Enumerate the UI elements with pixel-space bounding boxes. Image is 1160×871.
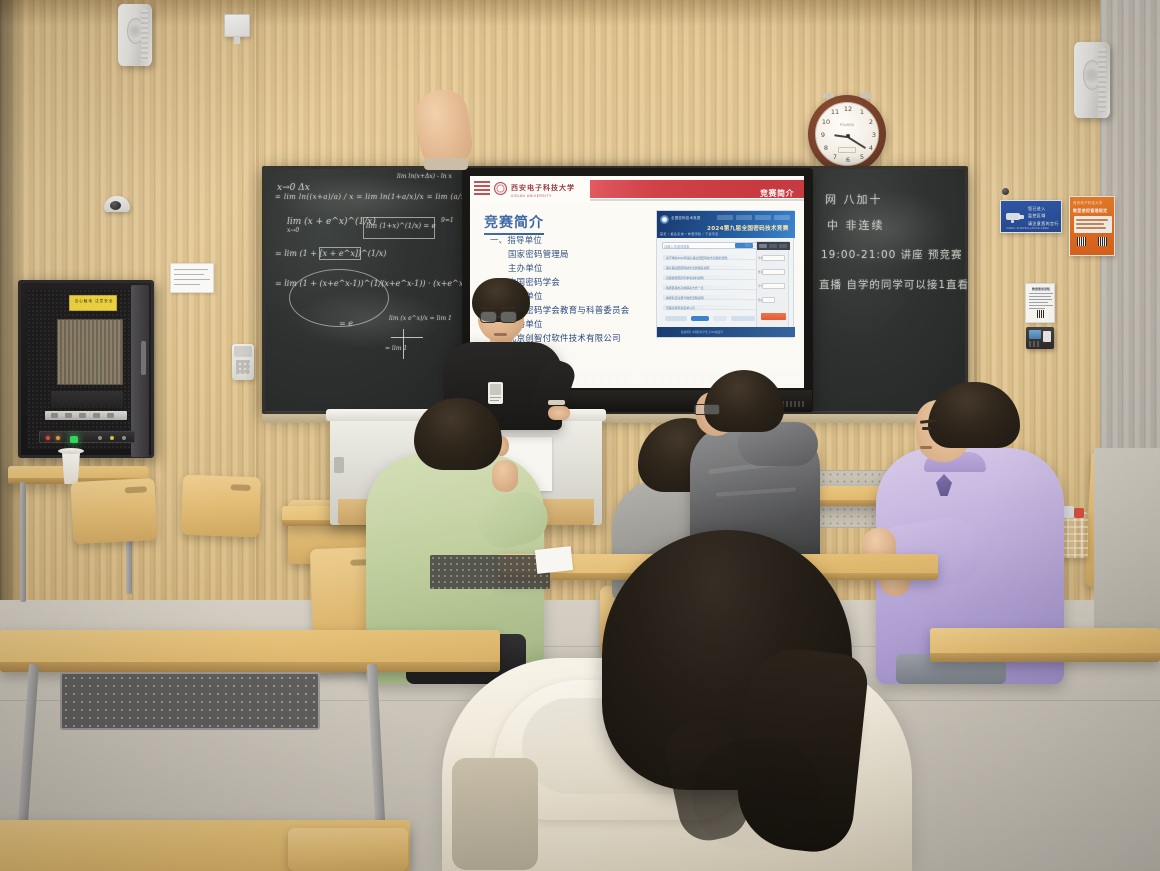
glasses-lens-right <box>500 311 517 323</box>
reader-card-slot <box>1043 331 1051 342</box>
poster-line <box>1029 293 1053 294</box>
form-input[interactable] <box>762 283 785 289</box>
website-nav-item <box>717 215 733 220</box>
rack-network-switch <box>39 431 135 443</box>
orange-sign-header: 西安电子科技大学 <box>1073 200 1103 205</box>
panel-tab[interactable] <box>759 244 767 248</box>
wall-conduit <box>234 37 240 44</box>
speaker-grille <box>1098 48 1106 112</box>
clock-numeral: 6 <box>843 156 853 164</box>
website-chip[interactable] <box>713 316 727 321</box>
chalk-line: x→0 <box>287 227 299 234</box>
rack-power-strip <box>45 411 127 420</box>
cctv-line-2: 监控区域 <box>1028 213 1059 219</box>
camera-mount <box>1011 220 1014 223</box>
slide-website-screenshot: 全国密码技术竞赛 2024第九届全国密码技术竞赛 首页 / 报名系统 / 参赛须… <box>656 210 794 338</box>
jacket-fold <box>716 487 796 497</box>
qr-code-icon <box>1098 237 1107 246</box>
desk-edge <box>930 653 1160 662</box>
slide-header-banner: 竞赛简介 <box>590 180 804 198</box>
rack-warning-label: 当心触电 注意安全 <box>69 295 117 311</box>
glasses-icon <box>694 404 720 415</box>
blackboard-left-panel: lim ln(x+Δx) - ln x x→0 Δx = lim ln((x+a… <box>265 169 465 411</box>
website-row-text: 各赛区承办高校联系方式一览 <box>666 286 704 290</box>
cup-rim <box>58 448 84 454</box>
chalk-line: lim (x e^x)/x = lim 1 <box>389 315 452 322</box>
university-name-en: XIDIAN UNIVERSITY <box>511 194 575 198</box>
wall-seam <box>256 0 259 640</box>
presenter-wristband <box>548 400 565 405</box>
clock-subdial <box>838 147 856 153</box>
badge-photo <box>490 384 501 395</box>
university-logo <box>494 182 507 195</box>
chair-backrest <box>181 475 261 538</box>
camera-lens <box>110 201 121 210</box>
orange-sign-card <box>1074 216 1112 233</box>
orange-sign-title: 教室使用管理规定 <box>1073 208 1107 214</box>
classroom-photo: 12 1 2 3 4 5 6 7 8 9 10 11 POLARIS 您已进入 <box>0 0 1160 871</box>
foreground-desk-left <box>0 630 500 672</box>
clock-numeral: 2 <box>866 118 876 126</box>
wall-telephone[interactable] <box>232 344 254 380</box>
camera-body <box>1006 213 1020 220</box>
website-submit-button[interactable] <box>761 313 786 320</box>
chalk-cn-line: 19:00-21:00 讲座 预竞赛 <box>821 247 962 262</box>
form-input[interactable] <box>762 297 775 303</box>
access-card-reader[interactable] <box>1026 327 1054 349</box>
glasses-bridge <box>496 316 501 318</box>
chair-backrest-foreground <box>288 828 408 871</box>
blackboard-right-panel: 网 八加十 中 非连续 19:00-21:00 讲座 预竞赛 直播 自学的同学可… <box>811 169 965 411</box>
chair-backrest <box>70 478 157 544</box>
slide-bullet: 国家密码管理局 <box>508 248 569 260</box>
website-row-text: 关于举办2024年第九届全国密码技术竞赛的通知 <box>666 256 727 260</box>
clock-numeral: 1 <box>857 108 867 116</box>
warning-label-text: 当心触电 注意安全 <box>70 299 118 304</box>
chalk-note: = lim 1 <box>385 345 407 352</box>
clock-numeral: 5 <box>857 153 867 161</box>
clock-brand-label: POLARIS <box>840 123 854 127</box>
power-outlet <box>93 413 100 418</box>
form-input[interactable] <box>762 255 785 261</box>
status-led-red <box>46 436 50 440</box>
clock-face: 12 1 2 3 4 5 6 7 8 9 10 11 POLARIS <box>815 102 879 166</box>
slide-header-rule <box>590 199 804 201</box>
status-led-amber <box>56 436 60 440</box>
status-led-yellow <box>110 436 114 440</box>
clock-numeral: 11 <box>830 108 840 116</box>
form-input[interactable] <box>762 269 785 275</box>
website-nav-item <box>755 215 771 220</box>
clock-numeral: 9 <box>818 131 828 139</box>
slide-header: 西安电子科技大学 XIDIAN UNIVERSITY 竞赛简介 <box>470 176 804 202</box>
rack-shelf <box>51 391 123 407</box>
clock-numeral: 7 <box>830 153 840 161</box>
website-banner: 全国密码技术竞赛 2024第九届全国密码技术竞赛 首页 / 报名系统 / 参赛须… <box>657 211 795 238</box>
phone-handset <box>234 346 252 357</box>
student-a-hand <box>492 460 518 492</box>
cctv-line-3: 请注意您的言行 <box>1028 221 1059 227</box>
chalk-line: = e <box>339 319 353 328</box>
wall-notice-left <box>170 263 214 293</box>
cctv-sign-text: 您已进入 监控区域 请注意您的言行 <box>1028 206 1059 228</box>
power-outlet <box>51 413 58 418</box>
rack-patch-panel <box>57 319 123 385</box>
poster-line <box>1029 305 1053 306</box>
panel-tab[interactable] <box>769 244 777 248</box>
website-logo-text: 全国密码技术竞赛 <box>671 215 701 220</box>
dome-camera-icon <box>104 196 130 212</box>
cctv-warning-sign: 您已进入 监控区域 请注意您的言行 VIDEO SURVEILLANCE ARE… <box>1000 200 1062 233</box>
website-chip-active[interactable] <box>691 316 709 321</box>
website-chip[interactable] <box>665 316 687 321</box>
status-led-off <box>122 436 126 440</box>
chalk-line: lim (1+x)^(1/x) = e <box>366 222 436 230</box>
chalk-note: 9=1 <box>441 217 454 224</box>
website-row-text: 第九届全国密码技术竞赛报名指南 <box>666 266 709 270</box>
power-outlet <box>107 413 114 418</box>
qr-code-icon <box>1077 237 1086 246</box>
orange-notice-sign: 西安电子科技大学 教室使用管理规定 <box>1069 196 1115 256</box>
chalk-cn-line: 中 非连续 <box>827 217 885 233</box>
ceiling-shadow <box>0 0 1160 26</box>
website-search-placeholder: 请输入关键词搜索 <box>664 244 690 249</box>
chalk-cn-line: 直播 自学的同学可以接1直看 <box>819 277 969 292</box>
poster-line <box>1029 299 1052 300</box>
chair-handle-slot <box>231 484 251 491</box>
foreground-desk-right <box>930 628 1160 662</box>
website-footer: 版权所有 中国密码学会 京ICP备案号 <box>657 327 795 337</box>
website-banner-title: 2024第九届全国密码技术竞赛 <box>707 224 789 232</box>
door-notice-poster: 教室使用须知 <box>1025 283 1055 323</box>
website-footer-text: 版权所有 中国密码学会 京ICP备案号 <box>681 330 723 334</box>
qr-code-icon <box>1037 310 1045 318</box>
student-d-mouth <box>920 446 932 449</box>
network-equipment-rack: 当心触电 注意安全 <box>18 280 154 458</box>
website-logo-icon <box>660 215 669 224</box>
wall-clock: 12 1 2 3 4 5 6 7 8 9 10 11 POLARIS <box>808 95 886 173</box>
panel-tab[interactable] <box>779 244 787 248</box>
power-outlet <box>65 413 72 418</box>
reader-keypad[interactable] <box>1029 341 1041 347</box>
table-leg <box>20 482 26 602</box>
wristwatch <box>424 158 468 170</box>
student-a-hair <box>414 398 502 470</box>
website-nav-item <box>736 215 752 220</box>
website-row-text: 参赛队伍注册与缴费流程说明 <box>666 296 704 300</box>
website-row-text: 历届竞赛获奖名单公示 <box>666 306 695 310</box>
lectern-latch[interactable] <box>334 457 344 473</box>
chalk-highlight-box <box>319 247 361 260</box>
chalk-cn-line: 网 八加十 <box>825 191 883 207</box>
website-row-text: 竞赛赛题范围与参考资料说明 <box>666 276 704 280</box>
corner-camera-icon <box>1002 188 1009 195</box>
clock-numeral: 4 <box>866 144 876 152</box>
camera-lens-icon <box>1019 215 1024 219</box>
wall-speaker-left <box>118 4 152 66</box>
student-e-bag <box>452 758 538 870</box>
notice-line <box>174 274 204 275</box>
chalk-fraction-bar <box>391 337 423 338</box>
clock-numeral: 10 <box>821 118 831 126</box>
basket-content <box>1074 508 1084 518</box>
speaker-grille <box>141 9 148 61</box>
desk-edge <box>0 662 500 672</box>
slide-bullet: 主办单位 <box>508 262 543 274</box>
university-name-cn: 西安电子科技大学 <box>511 183 575 193</box>
cctv-line-1: 您已进入 <box>1028 206 1059 212</box>
website-chip[interactable] <box>731 316 755 321</box>
poster-title: 教室使用须知 <box>1032 287 1050 291</box>
under-desk-basket <box>60 672 320 730</box>
poster-line <box>1029 308 1045 309</box>
chalk-vertical-stroke <box>403 329 404 359</box>
poster-line <box>1029 296 1051 297</box>
website-nav-item <box>774 215 790 220</box>
card-line <box>1076 223 1104 225</box>
power-outlet <box>79 413 86 418</box>
website-subnav: 首页 / 报名系统 / 参赛须知 / 下载专区 <box>660 232 719 236</box>
student-e <box>442 530 912 871</box>
slide-accent-bars <box>474 181 490 196</box>
clock-numeral: 3 <box>869 131 879 139</box>
status-led-off <box>98 436 102 440</box>
wall-junction-box <box>224 14 250 37</box>
neck-shading <box>692 740 822 850</box>
chalk-line: x→0 Δx <box>277 183 310 193</box>
clock-numeral: 12 <box>843 105 853 113</box>
cctv-english-label: VIDEO SURVEILLANCE AREA <box>1006 227 1049 230</box>
university-name-block: 西安电子科技大学 XIDIAN UNIVERSITY <box>511 183 575 198</box>
wall-speaker-right <box>1074 42 1110 118</box>
reader-display <box>1029 330 1041 339</box>
status-led-green <box>70 436 78 443</box>
phone-keypad[interactable] <box>236 360 250 374</box>
slide-title: 竞赛简介 <box>484 212 544 235</box>
acoustic-divider-panel <box>1094 448 1160 638</box>
chair-handle-slot <box>125 486 147 493</box>
card-line <box>1076 219 1108 221</box>
poster-line <box>1029 302 1048 303</box>
student-c-hair <box>704 370 784 432</box>
panel-header <box>757 242 790 250</box>
student-d-hair <box>928 382 1020 448</box>
website-registration-panel: 学校 姓名 学号 验证码 <box>756 241 789 329</box>
slide-banner-title: 竞赛简介 <box>760 188 794 199</box>
rack-door-handle[interactable] <box>141 341 146 375</box>
clock-numeral: 8 <box>821 144 831 152</box>
card-line <box>1076 227 1106 229</box>
clock-center-pin <box>846 134 850 138</box>
student-d-eye <box>922 427 931 430</box>
chalk-line: lim ln(x+Δx) - ln x <box>397 173 452 180</box>
glasses-lens-left <box>480 311 497 323</box>
slide-bullet: 一、指导单位 <box>490 234 542 246</box>
presenter-hand <box>548 406 570 420</box>
cctv-camera-icon <box>1006 210 1024 222</box>
clock-lug <box>822 93 834 98</box>
presenter-mouth <box>494 333 507 336</box>
notice-line <box>174 284 200 285</box>
notice-line <box>174 269 208 270</box>
notice-line <box>174 279 210 280</box>
clock-lug <box>860 93 872 98</box>
